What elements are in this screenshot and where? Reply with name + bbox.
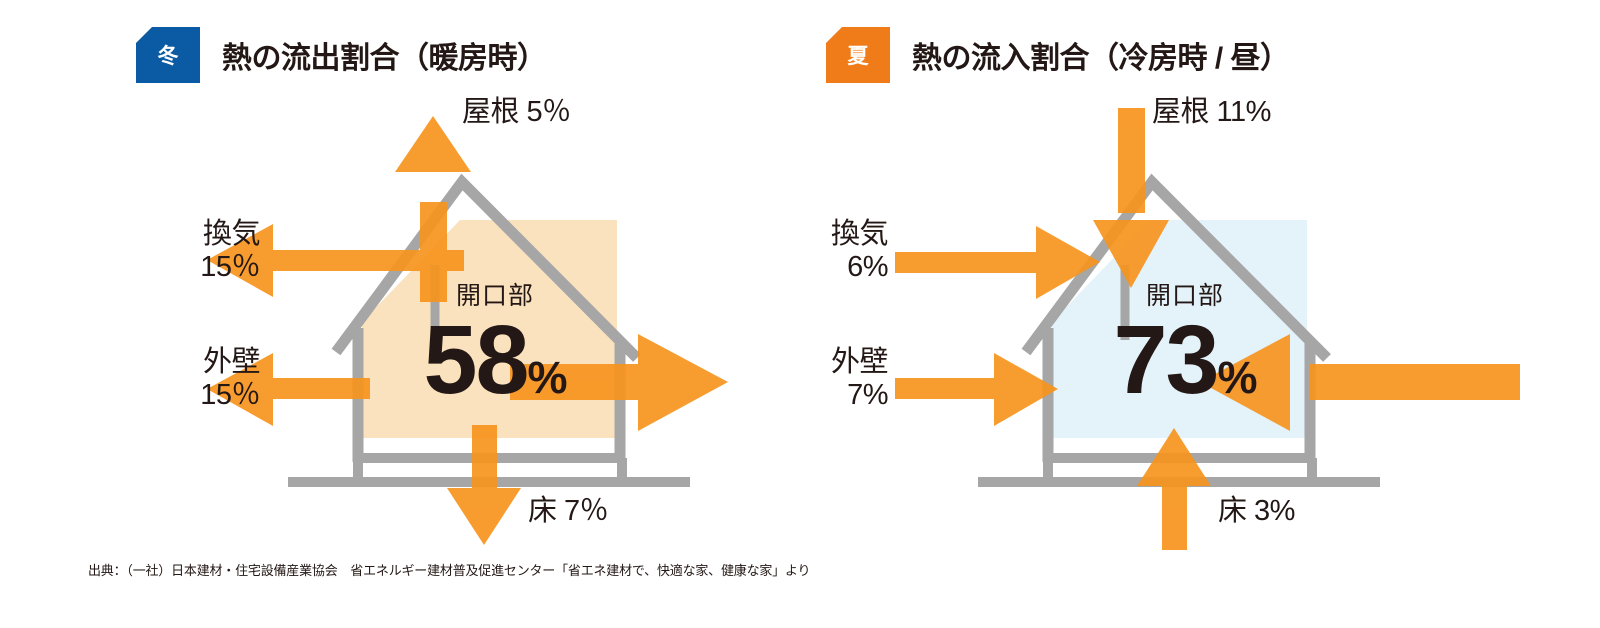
center-number-row-summer: 73%: [1100, 314, 1270, 406]
flow-label-wall-part-summer: 外壁: [831, 346, 888, 378]
infographic-page: 冬 熱の流出割合（暖房時）: [0, 0, 1600, 628]
flow-label-wall-part-winter: 外壁: [203, 346, 260, 378]
season-badge-summer: 夏: [826, 27, 890, 83]
panel-summer: 夏 熱の流入割合（冷房時 / 昼）: [800, 0, 1520, 560]
center-value-winter: 58: [424, 314, 528, 406]
flow-label-floor-winter: 床 7％: [528, 495, 608, 528]
center-unit-winter: %: [527, 352, 566, 404]
panel-header-summer: 夏 熱の流入割合（冷房時 / 昼）: [826, 27, 1290, 83]
panel-title-summer: 熱の流入割合（冷房時 / 昼）: [912, 33, 1290, 77]
panel-header-winter: 冬 熱の流出割合（暖房時）: [136, 27, 547, 83]
center-stat-summer: 開口部 73%: [1100, 276, 1270, 406]
source-footnote: 出典：（一社）日本建材・住宅設備産業協会 省エネルギー建材普及促進センター「省エ…: [88, 560, 810, 579]
panel-winter: 冬 熱の流出割合（暖房時）: [110, 0, 830, 560]
flow-arrow-floor-summer: [1137, 428, 1211, 550]
flow-label-wall-percent-winter: 15％: [110, 379, 260, 412]
house-diagram-summer: 屋根 11% 換気 6% 外壁 7% 床 3% 開口部 73%: [800, 90, 1520, 550]
flow-label-roof-summer: 屋根 11%: [1152, 96, 1271, 129]
flow-label-ventilation-part-winter: 換気: [203, 218, 260, 250]
flow-label-ventilation-summer: 換気 6%: [800, 218, 888, 285]
flow-label-ventilation-winter: 換気 15％: [110, 218, 260, 285]
panel-title-winter: 熱の流出割合（暖房時）: [222, 33, 547, 77]
flow-label-wall-summer: 外壁 7%: [800, 346, 888, 413]
flow-label-wall-winter: 外壁 15％: [110, 346, 260, 413]
flow-arrow-wall-summer: [895, 353, 1058, 426]
flow-label-ventilation-part-summer: 換気: [831, 218, 888, 250]
center-stat-winter: 開口部 58%: [410, 276, 580, 406]
house-diagram-winter: 屋根 5％ 換気 15％ 外壁 15％ 床 7％ 開口部 58%: [110, 90, 830, 550]
flow-label-roof-winter: 屋根 5％: [462, 96, 571, 129]
center-value-summer: 73: [1114, 314, 1218, 406]
flow-label-ventilation-percent-summer: 6%: [800, 251, 888, 284]
season-badge-winter: 冬: [136, 27, 200, 83]
flow-label-ventilation-percent-winter: 15％: [110, 251, 260, 284]
flow-label-floor-summer: 床 3%: [1218, 495, 1295, 528]
center-number-row-winter: 58%: [410, 314, 580, 406]
flow-label-wall-percent-summer: 7%: [800, 379, 888, 412]
center-unit-summer: %: [1217, 352, 1256, 404]
